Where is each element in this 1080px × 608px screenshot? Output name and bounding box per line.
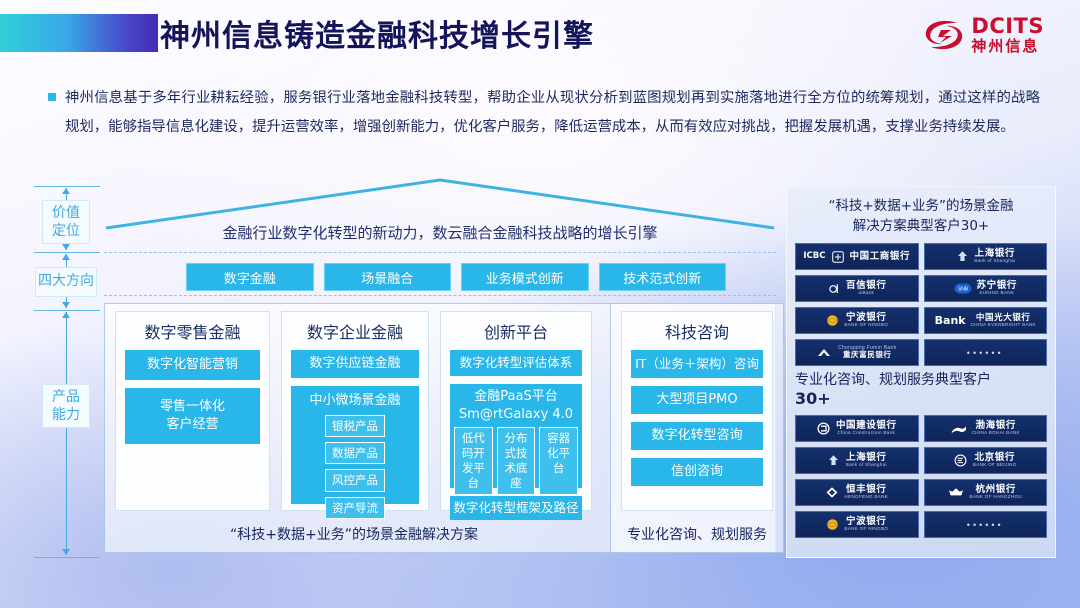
customer-logo-everbright: Bank 中国光大银行 CHINA EVERBRIGHT BANK xyxy=(924,307,1048,334)
customer-logo-suning-bank: SNB 苏宁银行 SUNING BANK xyxy=(924,275,1048,302)
hengfeng-bank-icon xyxy=(825,486,839,500)
icbc-wordmark: ICBC xyxy=(803,252,825,261)
consulting-block-large-project-pmo[interactable]: 大型项目PMO xyxy=(631,386,763,414)
aibank-icon xyxy=(827,282,841,296)
block-line: Sm@rtGalaxy 4.0 xyxy=(459,406,573,424)
title-accent-bar xyxy=(0,14,158,52)
customer-logo-bank-of-ningbo: 宁波银行 BANK OF NINGBO xyxy=(795,307,919,334)
direction-chip-business-model-innovation[interactable]: 业务模式创新 xyxy=(461,263,589,291)
axis-divider-2 xyxy=(34,310,100,311)
column-title: 科技咨询 xyxy=(631,319,763,343)
left-capability-caption: “科技+数据+业务”的场景金融解决方案 xyxy=(115,524,593,544)
axis-arrow-3 xyxy=(66,312,67,555)
customer-logo-bank-of-ningbo-2: 宁波银行 BANK OF NINGBO xyxy=(795,511,919,538)
paas-cell-distributed-base[interactable]: 分布式技术底座 xyxy=(497,427,536,495)
logo-en-label: DCITS xyxy=(971,16,1044,37)
ellipsis-icon: •••••• xyxy=(967,520,1004,530)
capability-column-digital-retail-finance: 数字零售金融 数字化智能营销 零售一体化 客户经营 xyxy=(115,311,270,511)
customer-logo-sublabel: BANK OF NINGBO xyxy=(844,527,888,532)
axis-tag-line1: 价值 xyxy=(45,205,87,223)
suning-bank-icon: SNB xyxy=(954,282,972,296)
capability-block-financial-paas[interactable]: 金融PaaS平台 Sm@rtGalaxy 4.0 低代码开发平台 分布式技术底座… xyxy=(450,384,582,488)
capability-block-retail-integration[interactable]: 零售一体化 客户经营 xyxy=(125,388,260,444)
axis-divider-top xyxy=(34,186,100,187)
bank-of-ningbo-icon xyxy=(825,518,839,532)
subchip-risk-control-product[interactable]: 风控产品 xyxy=(325,469,385,491)
dcits-logo-text: DCITS 神州信息 xyxy=(971,16,1044,54)
customer-logo-grid-consulting: 中国建设银行 China Construction Bank 渤海银行 CHIN… xyxy=(795,415,1047,538)
customer-logo-bohai-bank: 渤海银行 CHINA BOHAI BANK xyxy=(924,415,1048,442)
column-title: 数字企业金融 xyxy=(291,319,419,343)
four-directions-row: 数字金融 场景融合 业务模式创新 技术范式创新 xyxy=(186,263,726,291)
dashed-divider-1 xyxy=(104,252,776,253)
customer-logo-bank-of-shanghai: 上海银行 Bank of Shanghai xyxy=(924,243,1048,270)
column-title: 创新平台 xyxy=(450,319,582,343)
customer-logo-sublabel: BANK OF HANGZHOU xyxy=(969,495,1022,500)
customer-logo-textstack: 渤海银行 CHINA BOHAI BANK xyxy=(972,421,1020,436)
capability-block-supply-chain-finance[interactable]: 数字供应链金融 xyxy=(291,350,419,378)
column-title: 数字零售金融 xyxy=(125,319,260,343)
customers-heading-scenario: “科技+数据+业务”的场景金融 解决方案典型客户30+ xyxy=(795,197,1047,236)
block-line: 数字供应链金融 xyxy=(309,355,400,373)
capability-block-smart-marketing[interactable]: 数字化智能营销 xyxy=(125,350,260,380)
svg-text:SNB: SNB xyxy=(957,287,968,293)
customer-logo-textstack: 宁波银行 BANK OF NINGBO xyxy=(844,517,888,532)
block-line: 数字化智能营销 xyxy=(147,356,238,374)
customer-logo-fumin-bank: Chongqing Fumin Bank 重庆富民银行 xyxy=(795,339,919,366)
consulting-block-xinchuang-consulting[interactable]: 信创咨询 xyxy=(631,458,763,486)
customer-logo-sublabel: CHINA BOHAI BANK xyxy=(972,431,1020,436)
direction-chip-scenario-fusion[interactable]: 场景融合 xyxy=(324,263,452,291)
customers-heading-line1: “科技+数据+业务”的场景金融 xyxy=(795,197,1047,217)
sme-subchip-grid: 银税产品 数据产品 风控产品 资产导流 xyxy=(294,415,416,520)
capability-column-tech-consulting: 科技咨询 IT（业务＋架构）咨询 大型项目PMO 数字化转型咨询 信创咨询 xyxy=(621,311,773,511)
customers-heading2-line1: 专业化咨询、规划服务典型客户 xyxy=(795,371,1047,389)
customer-logo-sublabel: SUNING BANK xyxy=(979,291,1014,296)
customer-logo-sublabel: CHINA EVERBRIGHT BANK xyxy=(971,323,1036,328)
customer-logo-textstack: 中国光大银行 CHINA EVERBRIGHT BANK xyxy=(971,314,1036,328)
block-line: 数字化转型评估体系 xyxy=(460,355,573,372)
axis-tag-four-directions: 四大方向 xyxy=(35,267,97,297)
customer-logo-sublabel: China Construction Bank xyxy=(837,431,895,436)
consulting-block-transformation-consulting[interactable]: 数字化转型咨询 xyxy=(631,422,763,450)
customer-logo-textstack: 北京银行 BANK OF BEIJING xyxy=(973,453,1017,468)
capability-column-digital-enterprise-finance: 数字企业金融 数字供应链金融 中小微场景金融 银税产品 数据产品 风控产品 资产… xyxy=(281,311,429,511)
axis-tag-product-capability: 产品 能力 xyxy=(42,384,90,428)
customer-logo-sublabel: Bank of Shanghai xyxy=(974,259,1015,264)
axis-tag-line2: 能力 xyxy=(45,407,87,425)
dashed-divider-2 xyxy=(104,295,776,296)
block-line: 客户经营 xyxy=(166,416,218,434)
dcits-logo: DCITS 神州信息 xyxy=(924,16,1044,54)
capability-block-transformation-framework[interactable]: 数字化转型框架及路径 xyxy=(450,496,582,520)
customer-logo-textstack: 百信银行 aiBank xyxy=(846,281,886,296)
customer-logo-aibank: 百信银行 aiBank xyxy=(795,275,919,302)
everbright-wordmark: Bank xyxy=(935,315,966,327)
typical-customers-panel: “科技+数据+业务”的场景金融 解决方案典型客户30+ ICBC 中国工商银行 … xyxy=(786,186,1056,558)
customer-logo-sublabel: BANK OF NINGBO xyxy=(844,323,888,328)
paas-cell-lowcode[interactable]: 低代码开发平台 xyxy=(454,427,493,495)
subchip-asset-routing[interactable]: 资产导流 xyxy=(325,497,385,519)
direction-chip-tech-paradigm-innovation[interactable]: 技术范式创新 xyxy=(599,263,727,291)
bank-of-ningbo-icon xyxy=(825,314,839,328)
block-line: 中小微场景金融 xyxy=(309,392,400,410)
customer-logo-sublabel: HENGFENG BANK xyxy=(844,495,888,500)
customer-logo-more-2: •••••• xyxy=(924,511,1048,538)
customer-logo-textstack: 恒丰银行 HENGFENG BANK xyxy=(844,485,888,500)
ellipsis-icon: •••••• xyxy=(967,348,1004,358)
customer-logo-label: 中国工商银行 xyxy=(850,252,911,262)
customer-logo-bank-of-shanghai-2: 上海银行 Bank of Shanghai xyxy=(795,447,919,474)
bank-of-hangzhou-icon xyxy=(948,486,964,500)
axis-divider-1 xyxy=(34,252,100,253)
bank-of-shanghai-icon xyxy=(827,454,841,468)
capability-column-innovation-platform: 创新平台 数字化转型评估体系 金融PaaS平台 Sm@rtGalaxy 4.0 … xyxy=(440,311,592,511)
axis-tag-value-positioning: 价值 定位 xyxy=(42,200,90,244)
value-axis: 价值 定位 四大方向 产品 能力 xyxy=(34,186,100,558)
customer-logo-more-1: •••••• xyxy=(924,339,1048,366)
dcits-logo-mark xyxy=(924,18,964,52)
subchip-data-product[interactable]: 数据产品 xyxy=(325,442,385,464)
block-line: 数字化转型框架及路径 xyxy=(453,500,578,517)
axis-tag-line1: 产品 xyxy=(45,389,87,407)
axis-tag-line2: 定位 xyxy=(45,223,87,241)
bank-of-beijing-icon xyxy=(954,454,968,468)
paas-cell-container-platform[interactable]: 容器化平台 xyxy=(539,427,578,495)
customer-logo-textstack: 苏宁银行 SUNING BANK xyxy=(977,281,1017,296)
intro-text: 神州信息基于多年行业耕耘经验，服务银行业落地金融科技转型，帮助企业从现状分析到蓝… xyxy=(48,84,1040,142)
customer-logo-grid-scenario: ICBC 中国工商银行 上海银行 Bank of Shanghai xyxy=(795,243,1047,366)
customer-logo-bank-of-hangzhou: 杭州银行 BANK OF HANGZHOU xyxy=(924,479,1048,506)
consulting-block-it-consulting[interactable]: IT（业务＋架构）咨询 xyxy=(631,350,763,378)
icbc-icon xyxy=(831,250,845,264)
customer-logo-textstack: Chongqing Fumin Bank 重庆富民银行 xyxy=(838,346,896,359)
customer-logo-textstack: 中国建设银行 China Construction Bank xyxy=(836,421,897,436)
direction-chip-digital-finance[interactable]: 数字金融 xyxy=(186,263,314,291)
fumin-bank-icon xyxy=(817,346,833,360)
customer-logo-bank-of-beijing: 北京银行 BANK OF BEIJING xyxy=(924,447,1048,474)
customer-logo-hengfeng-bank: 恒丰银行 HENGFENG BANK xyxy=(795,479,919,506)
consulting-caption: 专业化咨询、规划服务 xyxy=(613,524,781,544)
customers-heading-consulting: 专业化咨询、规划服务典型客户 30+ xyxy=(795,371,1047,410)
customer-logo-label: 重庆富民银行 xyxy=(843,351,892,359)
intro-paragraph-block: 神州信息基于多年行业耕耘经验，服务银行业落地金融科技转型，帮助企业从现状分析到蓝… xyxy=(48,84,1040,142)
capability-block-transformation-assessment[interactable]: 数字化转型评估体系 xyxy=(450,350,582,376)
customer-logo-textstack: 宁波银行 BANK OF NINGBO xyxy=(844,313,888,328)
customer-logo-textstack: 上海银行 Bank of Shanghai xyxy=(846,453,887,468)
customer-logo-sublabel: BANK OF BEIJING xyxy=(973,463,1017,468)
bullet-square-icon xyxy=(48,93,56,101)
bank-of-shanghai-icon xyxy=(955,250,969,264)
bohai-bank-icon xyxy=(951,422,967,436)
customer-logo-ccb: 中国建设银行 China Construction Bank xyxy=(795,415,919,442)
customers-heading-line2: 解决方案典型客户30+ xyxy=(795,217,1047,237)
logo-cn-label: 神州信息 xyxy=(971,39,1044,54)
customer-logo-textstack: 上海银行 Bank of Shanghai xyxy=(974,249,1015,264)
axis-divider-bottom xyxy=(34,557,100,558)
subchip-tax-bank-product[interactable]: 银税产品 xyxy=(325,415,385,437)
page-title: 神州信息铸造金融科技增长引擎 xyxy=(160,11,594,55)
customers-heading2-line2: 30+ xyxy=(795,389,831,408)
block-line: 零售一体化 xyxy=(160,398,225,416)
customer-logo-icbc: ICBC 中国工商银行 xyxy=(795,243,919,270)
customer-logo-textstack: 杭州银行 BANK OF HANGZHOU xyxy=(969,485,1022,500)
block-line: 金融PaaS平台 xyxy=(474,388,557,406)
paas-cell-row: 低代码开发平台 分布式技术底座 容器化平台 xyxy=(454,427,578,495)
slide-canvas: 神州信息铸造金融科技增长引擎 DCITS 神州信息 神州信息基于多年行业耕耘经验… xyxy=(0,0,1080,608)
ccb-icon xyxy=(817,422,831,436)
customer-logo-sublabel: aiBank xyxy=(858,291,874,296)
strategy-statement: 金融行业数字化转型的新动力，数云融合金融科技战略的增长引擎 xyxy=(104,222,776,243)
capability-block-sme-scenario-finance[interactable]: 中小微场景金融 银税产品 数据产品 风控产品 资产导流 xyxy=(291,386,419,504)
customer-logo-sublabel: Bank of Shanghai xyxy=(846,463,887,468)
axis-tag-line1: 四大方向 xyxy=(38,273,94,291)
